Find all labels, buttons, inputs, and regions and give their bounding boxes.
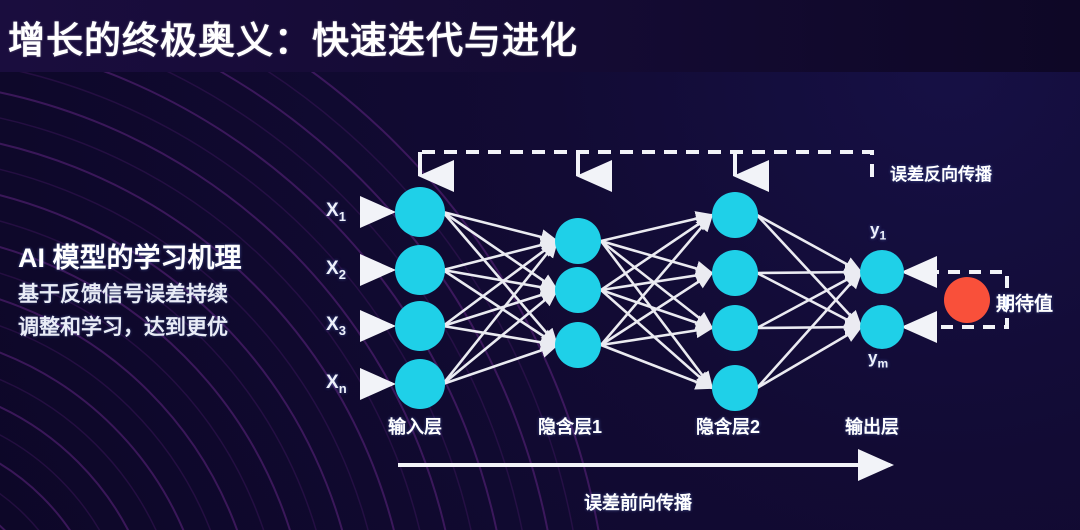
input-label-1-sub: 1 — [339, 209, 346, 224]
input-label-1: X1 — [326, 200, 346, 224]
output-label-2: ym — [868, 348, 888, 370]
neural-network-diagram — [0, 0, 1080, 530]
expected-value-arrowheads — [905, 272, 930, 327]
output-label-2-sub: m — [877, 356, 888, 370]
input-label-3: X3 — [326, 314, 346, 338]
edges-hidden1-hidden2 — [601, 215, 712, 388]
node-hidden1-1 — [555, 218, 601, 264]
layer-label-hidden2: 隐含层2 — [696, 413, 760, 439]
input-label-2: X2 — [326, 258, 346, 282]
node-hidden2-1 — [712, 192, 758, 238]
forwardprop-label: 误差前向传播 — [584, 489, 692, 515]
node-input-2 — [395, 245, 445, 295]
input-label-4-base: X — [326, 372, 339, 393]
node-hidden2-3 — [712, 305, 758, 351]
node-hidden2-2 — [712, 250, 758, 296]
output-label-1: y1 — [870, 220, 886, 242]
node-expected-value — [944, 277, 990, 323]
layer-label-hidden1: 隐含层1 — [538, 413, 602, 439]
slide-canvas: 增长的终极奥义：快速迭代与进化 AI 模型的学习机理 基于反馈信号误差持续 调整… — [0, 0, 1080, 530]
input-label-4-sub: n — [339, 381, 347, 396]
input-label-3-base: X — [326, 314, 339, 335]
node-input-3 — [395, 301, 445, 351]
node-output-2 — [860, 305, 904, 349]
input-label-2-sub: 2 — [339, 267, 346, 282]
expected-value-label: 期待值 — [996, 289, 1053, 316]
output-label-1-sub: 1 — [879, 228, 886, 242]
node-hidden1-3 — [555, 322, 601, 368]
edges-input-hidden1 — [443, 212, 557, 384]
input-label-1-base: X — [326, 200, 339, 221]
edges-hidden2-output — [757, 215, 861, 388]
node-input-1 — [395, 187, 445, 237]
input-label-2-base: X — [326, 258, 339, 279]
layer-label-output: 输出层 — [845, 413, 899, 439]
node-hidden2-4 — [712, 365, 758, 411]
backprop-down-arrows — [420, 152, 735, 176]
input-label-4: Xn — [326, 372, 347, 396]
node-input-4 — [395, 359, 445, 409]
input-arrows — [363, 212, 392, 384]
node-hidden1-2 — [555, 267, 601, 313]
layer-label-input: 输入层 — [388, 413, 442, 439]
backprop-path — [420, 152, 872, 182]
node-output-1 — [860, 250, 904, 294]
backprop-label: 误差反向传播 — [890, 160, 992, 185]
input-label-3-sub: 3 — [339, 323, 346, 338]
